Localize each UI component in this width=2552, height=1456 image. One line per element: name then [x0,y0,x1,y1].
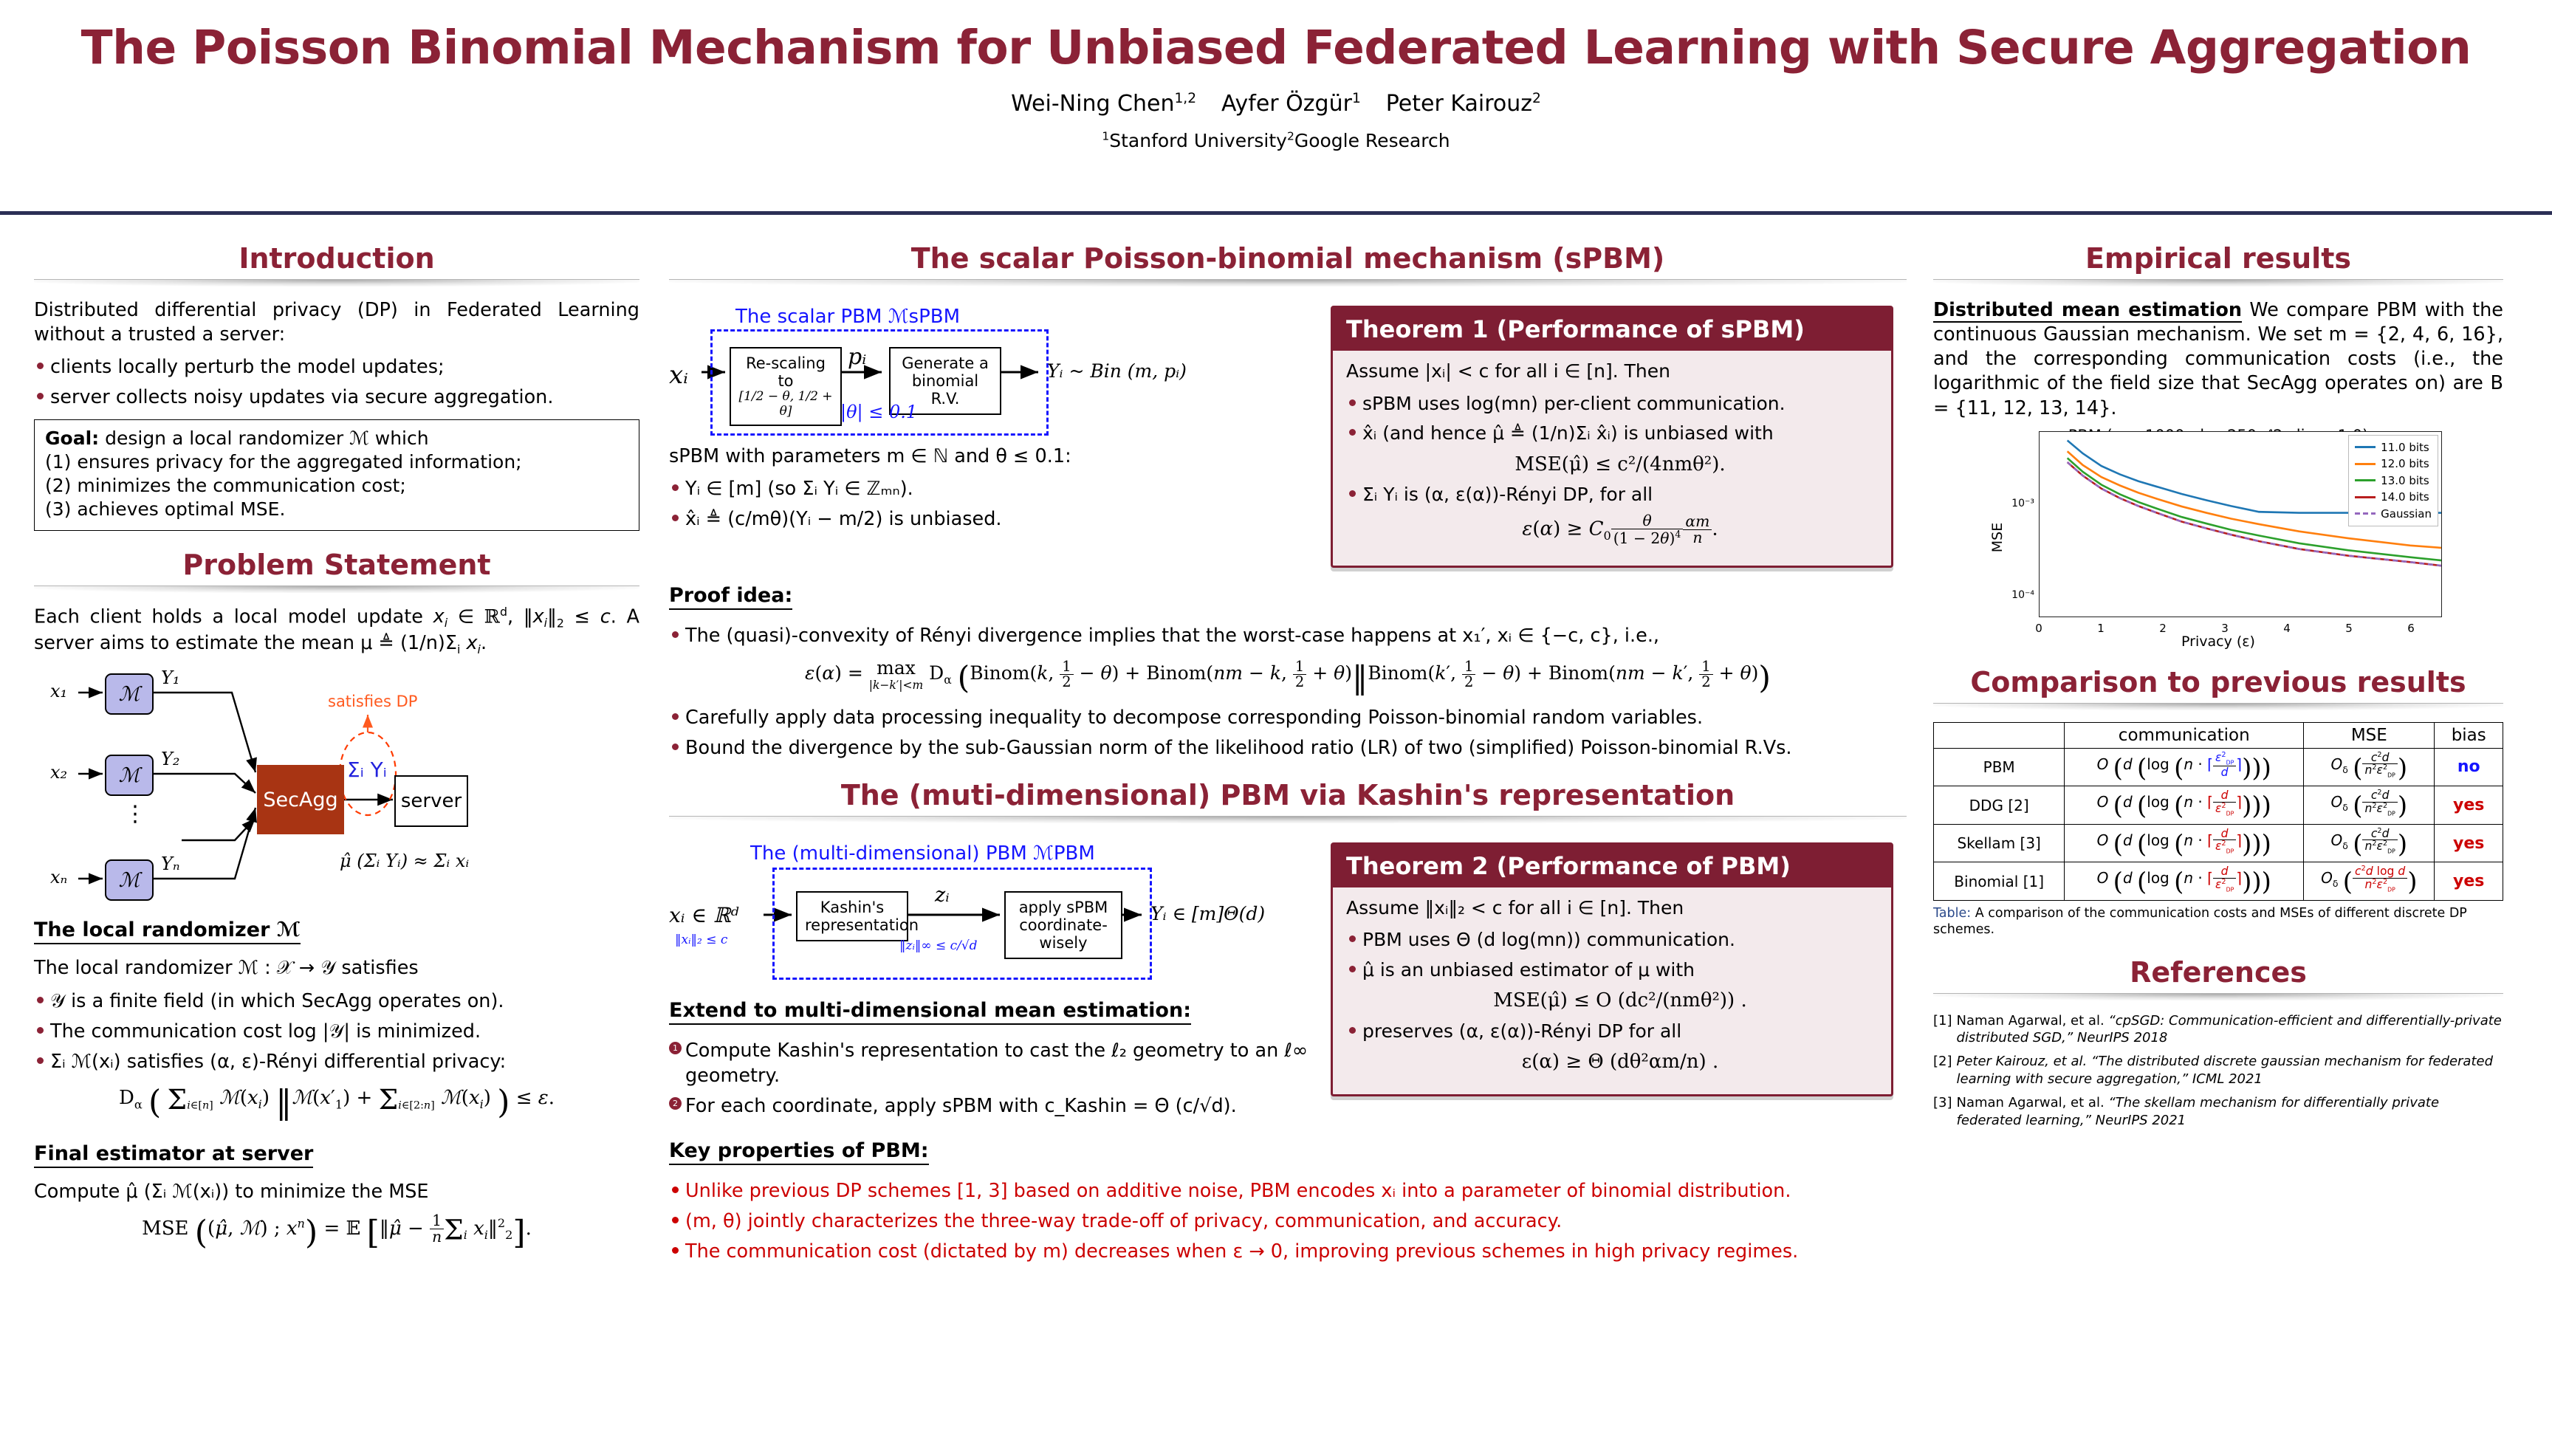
section-title-pbm: The (muti-dimensional) PBM via Kashin's … [669,779,1907,811]
table-row: PBMO (d (log (n · ⌈ε2DPd⌉)))Oδ (c2dn2ε2D… [1934,748,2503,786]
section-title-spbm: The scalar Poisson-binomial mechanism (s… [669,242,1907,275]
chart-x-tick: 4 [2283,622,2291,635]
legend-label: 11.0 bits [2381,439,2429,456]
list-item: The communication cost log |𝒴| is minimi… [34,1019,639,1044]
list-item: (m, θ) jointly characterizes the three-w… [669,1209,1907,1234]
diagram-output-label: Y₁ [161,667,179,688]
list-item: 1Compute Kashin's representation to cast… [669,1038,1311,1088]
diagram-output-label: Yₙ [161,854,180,874]
estimator-approximation-label: μ̂ (Σᵢ Yᵢ) ≈ Σᵢ xᵢ [340,851,469,871]
spbm-mechanism-diagram: The scalar PBM ℳsPBM xᵢ Re-scaling to [669,306,1311,439]
p-i-label: pᵢ [848,344,866,370]
extend-steps-list: 1Compute Kashin's representation to cast… [669,1038,1311,1119]
cell-mse: Oδ (c2dn2ε2DP) [2304,748,2435,786]
proof-bullet-list-2: Carefully apply data processing inequali… [669,705,1907,760]
section-title-empirical-results: Empirical results [1933,242,2503,275]
column-header-communication: communication [2065,722,2304,748]
z-i-label: zᵢ [935,884,950,907]
list-item: x̂ᵢ ≜ (c/mθ)(Yᵢ − m/2) is unbiased. [669,506,1311,532]
heading-key-properties: Key properties of PBM: [669,1139,929,1165]
right-column: Empirical results Distributed mean estim… [1923,224,2514,1456]
secagg-architecture-diagram: x₁ x₂ xₙ ℳ ℳ ℳ Y₁ Y₂ Yₙ ⋮ SecAgg server … [34,663,639,907]
proof-epsilon-equation: ε(α) = max|k−k′|<m Dα (Binom(k, 12 − θ) … [669,657,1907,696]
chart-x-tick: 1 [2097,622,2105,635]
author-list: Wei-Ning Chen1,2Ayfer Özgür1Peter Kairou… [0,91,2552,117]
chart-x-tick: 2 [2159,622,2167,635]
spbm-lead: sPBM with parameters m ∈ ℕ and θ ≤ 0.1: [669,444,1311,469]
table-caption-tag: Table: [1933,906,1971,921]
randomizer-box: ℳ [105,755,154,796]
kashin-representation-block: Kashin's representation [796,891,908,941]
list-item: Bound the divergence by the sub-Gaussian… [669,735,1907,760]
cell-bias: no [2435,748,2503,786]
section-title-comparison: Comparison to previous results [1933,666,2503,698]
bias-value: yes [2453,834,2484,853]
legend-swatch [2355,512,2376,515]
list-item: The communication cost (dictated by m) d… [669,1239,1907,1264]
header-divider [0,211,2552,215]
theorem-2-assumption: Assume ‖xᵢ‖₂ < c for all i ∈ [n]. Then [1346,896,1878,921]
cell-scheme-name: PBM [1934,748,2065,786]
theorem-2-bullet-list: PBM uses Θ (d log(mn)) communication. μ̂… [1346,927,1878,1075]
bias-value: yes [2453,872,2484,890]
spbm-bullet-list: Yᵢ ∈ [m] (so Σᵢ Yᵢ ∈ ℤₘₙ). x̂ᵢ ≜ (c/mθ)(… [669,476,1311,532]
cell-scheme-name: Skellam [3] [1934,824,2065,862]
cell-communication: O (d (log (n · ⌈dε2DP⌉))) [2065,786,2304,825]
section-title-introduction: Introduction [34,242,639,275]
chart-y-tick: 10⁻⁴ [2011,589,2034,601]
goal-lead: design a local randomizer ℳ which [105,427,429,449]
section-divider [1933,993,2503,1000]
intro-bullet-list: clients locally perturb the model update… [34,354,639,410]
diagram-input-label: x₂ [50,762,67,783]
satisfies-dp-label: satisfies DP [328,693,417,710]
section-divider [1933,279,2503,286]
list-item: Unlike previous DP schemes [1, 3] based … [669,1178,1907,1203]
empirical-paragraph: Distributed mean estimation We compare P… [1933,298,2503,421]
legend-swatch [2355,463,2376,465]
column-header-bias: bias [2435,722,2503,748]
list-item: [1]Naman Agarwal, et al. “cpSGD: Communi… [1933,1012,2503,1047]
poster-header: The Poisson Binomial Mechanism for Unbia… [0,21,2552,151]
theorem-2-body: Assume ‖xᵢ‖₂ < c for all i ∈ [n]. Then P… [1333,887,1891,1095]
chart-x-tick: 5 [2345,622,2353,635]
list-item: 𝒴 is a finite field (in which SecAgg ope… [34,989,639,1014]
list-item: μ̂ is an unbiased estimator of μ with MS… [1346,958,1878,1014]
legend-item: 11.0 bits [2355,439,2432,456]
table-caption-text: A comparison of the communication costs … [1933,906,2467,937]
legend-item: 13.0 bits [2355,473,2432,490]
cell-communication: O (d (log (n · ⌈dε2DP⌉))) [2065,862,2304,901]
pbm-mechanism-diagram: The (multi-dimensional) PBM ℳPBM xᵢ ∈ ℝᵈ… [669,842,1311,983]
heading-proof-idea: Proof idea: [669,584,792,610]
cell-scheme-name: DDG [2] [1934,786,2065,825]
goal-label: Goal: [45,427,99,449]
affiliation: 2Google Research [1287,130,1450,151]
table-header-row: communication MSE bias [1934,722,2503,748]
cell-scheme-name: Binomial [1] [1934,862,2065,901]
legend-item: Gaussian [2355,506,2432,523]
chart-x-tick: 0 [2035,622,2042,635]
cell-mse: Oδ (c2dn2ε2DP) [2304,786,2435,825]
cell-bias: yes [2435,824,2503,862]
reference-text: Naman Agarwal, et al. “The skellam mecha… [1957,1094,2504,1129]
chart-plot-area: 11.0 bits12.0 bits13.0 bits14.0 bitsGaus… [2039,431,2442,617]
list-item: PBM uses Θ (d log(mn)) communication. [1346,927,1878,952]
list-item: [3]Naman Agarwal, et al. “The skellam me… [1933,1094,2503,1129]
affiliation-list: 1Stanford University2Google Research [0,130,2552,151]
list-item: [2]Peter Kairouz, et al. “The distribute… [1933,1053,2503,1088]
renyi-dp-equation: Dα ( Σi∈[n] ℳ(xi) ‖ℳ(x′1) + Σi∈[2:n] ℳ(x… [34,1083,639,1122]
apply-spbm-block: apply sPBM coordinate-wisely [1004,891,1122,959]
section-title-references: References [1933,956,2503,989]
author: Wei-Ning Chen1,2 [1011,91,1196,117]
section-title-problem-statement: Problem Statement [34,549,639,581]
cell-mse: Oδ (c2d log dn2ε2DP) [2304,862,2435,901]
list-item: The (quasi)-convexity of Rényi divergenc… [669,623,1907,648]
bias-value: yes [2453,796,2484,814]
section-divider [669,816,1907,823]
rescaling-block: Re-scaling to [1/2 − θ, 1/2 + θ] [730,347,842,426]
theorem-2-box: Theorem 2 (Performance of PBM) Assume ‖x… [1331,842,1893,1097]
heading-extend-multidim: Extend to multi-dimensional mean estimat… [669,999,1191,1025]
legend-label: 14.0 bits [2381,489,2429,506]
chart-y-tick: 10⁻³ [2011,498,2034,509]
mse-vs-privacy-chart: PBM (n = 1000, d = 250, ℓ2 clip = 1.0) M… [1986,427,2451,648]
step-number: 1 [669,1042,682,1054]
theorem-1-bullet-list: sPBM uses log(mn) per-client communicati… [1346,391,1878,547]
author: Ayfer Özgür1 [1221,91,1361,117]
legend-swatch [2355,496,2376,498]
list-item: Σᵢ Yᵢ is (α, ε(α))-Rényi DP, for all ε(α… [1346,482,1878,546]
affiliation: 1Stanford University [1102,130,1287,151]
legend-swatch [2355,446,2376,448]
spbm-output-label: Yᵢ ~ Bin (m, pᵢ) [1047,360,1187,382]
reference-list: [1]Naman Agarwal, et al. “cpSGD: Communi… [1933,1012,2503,1129]
goal-item: (3) achieves optimal MSE. [45,498,628,521]
reference-number: [1] [1933,1012,1952,1047]
list-item: x̂ᵢ (and hence μ̂ ≜ (1/n)Σᵢ x̂ᵢ) is unbi… [1346,421,1878,477]
table-row: DDG [2]O (d (log (n · ⌈dε2DP⌉)))Oδ (c2dn… [1934,786,2503,825]
cell-bias: yes [2435,862,2503,901]
section-divider [669,279,1907,286]
column-header-mse: MSE [2304,722,2435,748]
legend-swatch [2355,479,2376,481]
chart-y-axis-label: MSE [1989,522,2006,552]
heading-final-estimator: Final estimator at server [34,1142,313,1168]
chart-x-tick: 6 [2407,622,2415,635]
diagram-input-label: x₁ [50,681,67,701]
cell-communication: O (d (log (n · ⌈ε2DPd⌉))) [2065,748,2304,786]
chart-x-axis-label: Privacy (ε) [1986,633,2451,650]
theorem-2-mse-equation: MSE(μ̂) ≤ O (dc²/(nmθ²)) . [1362,988,1878,1014]
vertical-dots: ⋮ [124,808,146,821]
list-item: Yᵢ ∈ [m] (so Σᵢ Yᵢ ∈ ℤₘₙ). [669,476,1311,501]
intro-paragraph: Distributed differential privacy (DP) in… [34,298,639,347]
empirical-lead-label: Distributed mean estimation [1933,299,2242,323]
middle-column: The scalar Poisson-binomial mechanism (s… [653,224,1923,1456]
diagram-input-label: xₙ [50,867,67,887]
bias-value: no [2457,758,2480,776]
randomizer-box: ℳ [105,859,154,901]
list-item: server collects noisy updates via secure… [34,385,639,410]
comparison-table: communication MSE bias PBMO (d (log (n ·… [1933,722,2503,901]
reference-text: Naman Agarwal, et al. “cpSGD: Communicat… [1957,1012,2504,1047]
author: Peter Kairouz2 [1386,91,1541,117]
problem-paragraph: Each client holds a local model update x… [34,605,639,658]
theorem-1-body: Assume |xᵢ| < c for all i ∈ [n]. Then sP… [1333,351,1891,566]
server-box: server [394,775,468,827]
legend-label: Gaussian [2381,506,2432,523]
step-number: 2 [669,1097,682,1110]
column-header-scheme [1934,722,2065,748]
reference-text: Peter Kairouz, et al. “The distributed d… [1957,1053,2504,1088]
list-item: clients locally perturb the model update… [34,354,639,380]
randomizer-lead: The local randomizer ℳ : 𝒳 → 𝒴 satisfies [34,956,639,981]
randomizer-box: ℳ [105,673,154,715]
list-item: preserves (α, ε(α))-Rényi DP for all ε(α… [1346,1019,1878,1075]
theorem-1-mse-equation: MSE(μ̂) ≤ c²/(4nmθ²). [1362,452,1878,478]
section-divider [34,279,639,286]
table-caption: Table: A comparison of the communication… [1933,906,2503,938]
cell-mse: Oδ (c2dn2ε2DP) [2304,824,2435,862]
spbm-diagram-caption: The scalar PBM ℳsPBM [735,306,1311,328]
proof-bullet-list: The (quasi)-convexity of Rényi divergenc… [669,623,1907,648]
goal-item: (1) ensures privacy for the aggregated i… [45,450,628,474]
table-row: Binomial [1]O (d (log (n · ⌈dε2DP⌉)))Oδ … [1934,862,2503,901]
reference-number: [3] [1933,1094,1952,1129]
section-divider [1933,703,2503,710]
list-item: Carefully apply data processing inequali… [669,705,1907,730]
randomizer-bullet-list: 𝒴 is a finite field (in which SecAgg ope… [34,989,639,1074]
sum-of-y-label: Σᵢ Yᵢ [347,758,387,782]
chart-legend: 11.0 bits12.0 bits13.0 bits14.0 bitsGaus… [2348,435,2438,527]
list-item: 2For each coordinate, apply sPBM with c_… [669,1093,1311,1119]
list-item: Σᵢ ℳ(xᵢ) satisfies (α, ε)-Rényi differen… [34,1049,639,1074]
legend-label: 13.0 bits [2381,473,2429,490]
left-column: Introduction Distributed differential pr… [21,224,653,1456]
theorem-1-title: Theorem 1 (Performance of sPBM) [1333,308,1891,351]
list-item: sPBM uses log(mn) per-client communicati… [1346,391,1878,416]
reference-number: [2] [1933,1053,1952,1088]
theta-constraint-label: |θ| ≤ 0.1 [840,402,917,422]
theorem-2-epsilon-equation: ε(α) ≥ Θ (dθ²αm/n) . [1362,1049,1878,1075]
pbm-mid-note: ‖zᵢ‖∞ ≤ c/√d [899,938,978,953]
pbm-diagram-caption: The (multi-dimensional) PBM ℳPBM [750,842,1311,865]
key-properties-list: Unlike previous DP schemes [1, 3] based … [669,1178,1907,1264]
table-row: Skellam [3]O (d (log (n · ⌈dε2DP⌉)))Oδ (… [1934,824,2503,862]
theorem-1-epsilon-equation: ε(α) ≥ C0θ(1 − 2θ)4αmn. [1362,513,1878,546]
pbm-output-label: Yᵢ ∈ [m]Θ(d) [1150,903,1265,924]
secagg-box: SecAgg [257,765,344,834]
legend-item: 14.0 bits [2355,489,2432,506]
legend-label: 12.0 bits [2381,456,2429,473]
theorem-1-box: Theorem 1 (Performance of sPBM) Assume |… [1331,306,1893,568]
diagram-output-label: Y₂ [161,749,179,769]
goal-box: Goal: design a local randomizer ℳ which … [34,419,639,531]
page-title: The Poisson Binomial Mechanism for Unbia… [0,21,2552,75]
cell-communication: O (d (log (n · ⌈dε2DP⌉))) [2065,824,2304,862]
goal-item: (2) minimizes the communication cost; [45,474,628,498]
theorem-1-assumption: Assume |xᵢ| < c for all i ∈ [n]. Then [1346,360,1878,384]
chart-x-tick: 3 [2221,622,2229,635]
mse-definition-equation: MSE ((μ̂, ℳ) ; xn) = 𝔼 [‖μ̂ − 1nΣi xi‖22… [34,1213,639,1251]
theorem-2-title: Theorem 2 (Performance of PBM) [1333,845,1891,887]
cell-bias: yes [2435,786,2503,825]
final-estimator-lead: Compute μ̂ (Σᵢ ℳ(xᵢ)) to minimize the MS… [34,1180,639,1204]
legend-item: 12.0 bits [2355,456,2432,473]
section-divider [34,586,639,593]
heading-local-randomizer: The local randomizer ℳ [34,918,301,944]
